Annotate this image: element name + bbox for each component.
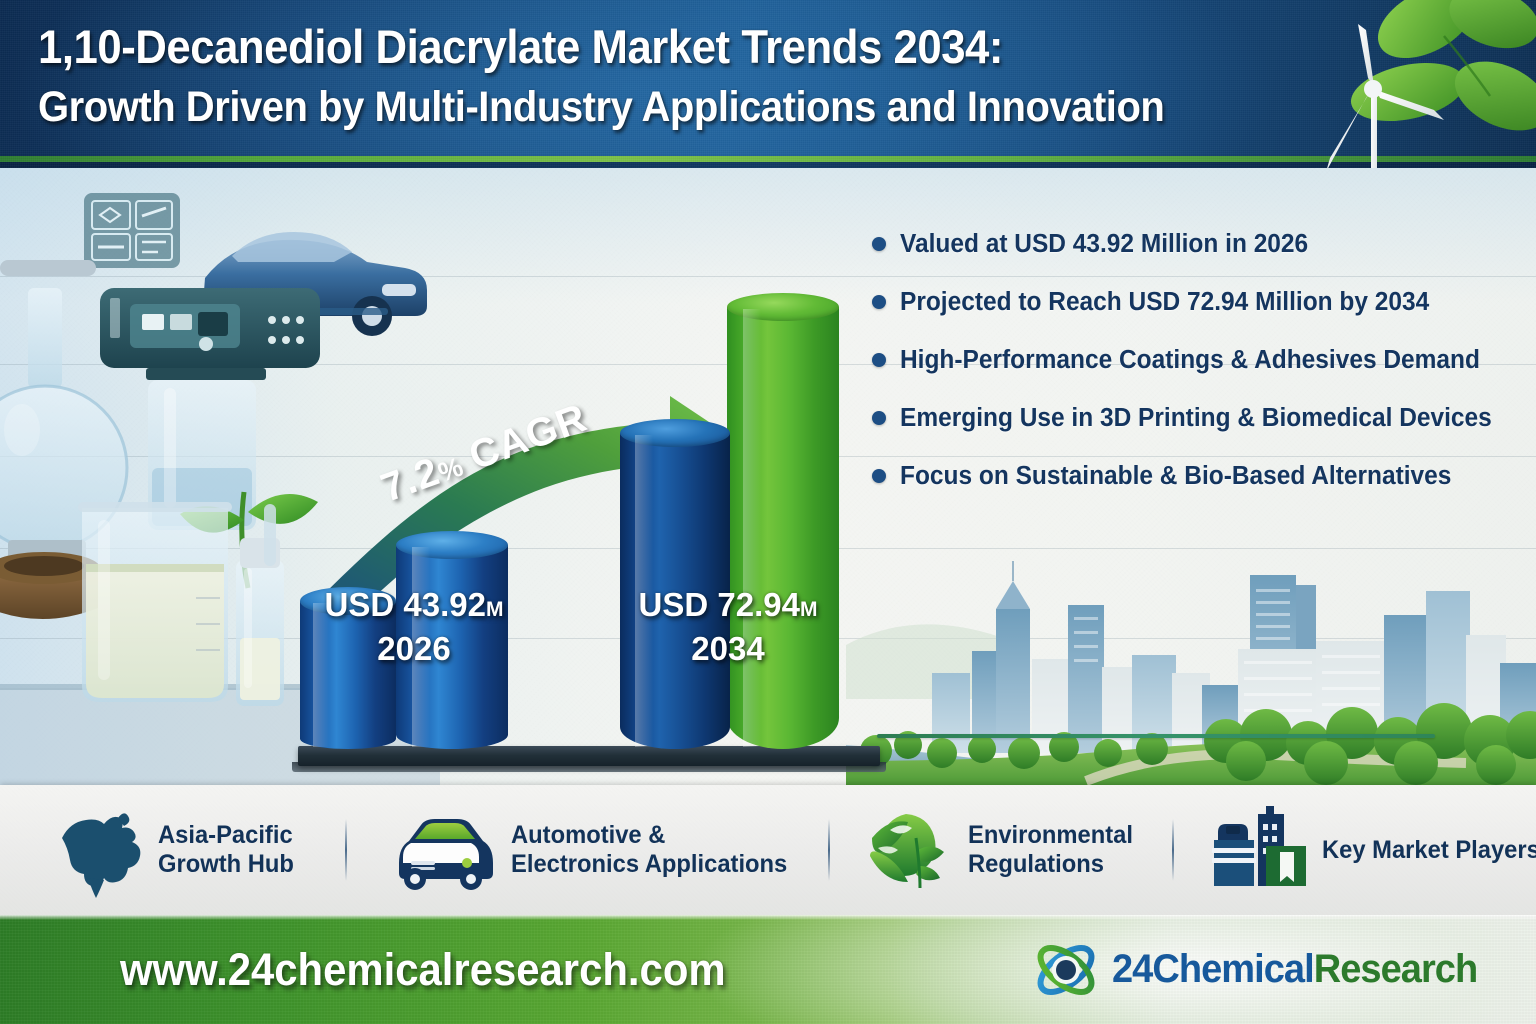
- strip-item-key-players[interactable]: Key Market Players: [1208, 802, 1536, 898]
- bar-body: [727, 307, 839, 749]
- bar-value-2026: USD 43.92M: [294, 586, 534, 629]
- bullet-text: High-Performance Coatings & Adhesives De…: [900, 344, 1480, 376]
- strip-label-automotive: Automotive & Electronics Applications: [511, 821, 802, 879]
- strip-label-line1: Asia-Pacific: [158, 821, 294, 850]
- title-block: 1,10-Decanediol Diacrylate Market Trends…: [38, 16, 1318, 136]
- footer-top-edge: [0, 915, 1536, 920]
- wind-turbine-icon: [1326, 24, 1444, 168]
- australia-map-icon: [48, 800, 144, 900]
- strip-item-automotive[interactable]: Automotive & Electronics Applications: [385, 805, 802, 895]
- bullet-text: Emerging Use in 3D Printing & Biomedical…: [900, 402, 1492, 434]
- footer-bar: www.24chemicalresearch.com 24ChemicalRes…: [0, 915, 1536, 1024]
- strip-divider: [1172, 819, 1174, 881]
- infographic-root: 1,10-Decanediol Diacrylate Market Trends…: [0, 0, 1536, 1024]
- bullet-dot-icon: [872, 469, 886, 483]
- bar-top-ellipse: [727, 293, 839, 321]
- section-divider: [877, 734, 1435, 738]
- strip-divider: [345, 819, 347, 881]
- bullet-dot-icon: [872, 295, 886, 309]
- strip-label-line2: Growth Hub: [158, 850, 294, 879]
- key-highlights-list: Valued at USD 43.92 Million in 2026 Proj…: [872, 228, 1522, 518]
- feature-strip: Asia-Pacific Growth Hub: [0, 785, 1536, 915]
- city-skyline-icon: [846, 545, 1536, 785]
- chart-platform: [298, 746, 880, 766]
- brand-name-part1: 24Chemical: [1112, 947, 1314, 991]
- strip-label-line2: Electronics Applications: [511, 850, 787, 879]
- bar-label-2034: USD 72.94M 2034: [608, 586, 848, 669]
- leaves-icon: [862, 804, 954, 896]
- list-item: Projected to Reach USD 72.94 Million by …: [872, 286, 1522, 318]
- strip-label-line1: Key Market Players: [1322, 836, 1536, 865]
- main-panel: 7.2% CAGR: [0, 168, 1536, 785]
- bullet-text: Projected to Reach USD 72.94 Million by …: [900, 286, 1429, 318]
- strip-label-line1: Environmental: [968, 821, 1133, 850]
- bar-2034-front-green: [727, 293, 839, 749]
- list-item: Emerging Use in 3D Printing & Biomedical…: [872, 402, 1522, 434]
- schematic-panel-icon: [84, 193, 180, 268]
- strip-label-asia-pacific: Asia-Pacific Growth Hub: [158, 821, 301, 879]
- leaf-icon: [1346, 0, 1536, 144]
- bullet-dot-icon: [872, 237, 886, 251]
- bar-label-2026: USD 43.92M 2026: [294, 586, 534, 669]
- bullet-dot-icon: [872, 411, 886, 425]
- brand-name: 24ChemicalResearch: [1112, 947, 1477, 992]
- bullet-dot-icon: [872, 353, 886, 367]
- bar-top-ellipse: [620, 419, 730, 447]
- beaker-icon: [78, 502, 232, 702]
- list-item: Valued at USD 43.92 Million in 2026: [872, 228, 1522, 260]
- strip-label-line1: Automotive &: [511, 821, 787, 850]
- bar-year-2034: 2034: [608, 629, 848, 669]
- website-url[interactable]: www.24chemicalresearch.com: [120, 944, 726, 996]
- page-title-line2: Growth Driven by Multi-Industry Applicat…: [38, 78, 1228, 136]
- factory-building-icon: [1208, 802, 1308, 898]
- list-item: Focus on Sustainable & Bio-Based Alterna…: [872, 460, 1522, 492]
- strip-label-environmental: Environmental Regulations: [968, 821, 1142, 879]
- strip-item-asia-pacific[interactable]: Asia-Pacific Growth Hub: [48, 800, 301, 900]
- strip-item-environmental[interactable]: Environmental Regulations: [862, 804, 1142, 896]
- car-icon: [385, 805, 497, 895]
- page-title-line1: 1,10-Decanediol Diacrylate Market Trends…: [38, 16, 1228, 78]
- strip-label-key-players: Key Market Players: [1322, 836, 1536, 865]
- bar-chart: USD 43.92M 2026 USD 72.94M 2034: [280, 168, 900, 785]
- bar-value-2034: USD 72.94M: [608, 586, 848, 629]
- strip-label-line2: Regulations: [968, 850, 1133, 879]
- brand-name-part2: Research: [1313, 947, 1477, 991]
- header-banner: 1,10-Decanediol Diacrylate Market Trends…: [0, 0, 1536, 168]
- brand-logo[interactable]: 24ChemicalResearch: [1030, 934, 1496, 1006]
- bar-year-2026: 2026: [294, 629, 534, 669]
- atom-orbital-icon: [1030, 934, 1102, 1006]
- bar-top-ellipse: [396, 531, 508, 559]
- bullet-text: Valued at USD 43.92 Million in 2026: [900, 228, 1308, 260]
- strip-divider: [828, 819, 830, 881]
- bar-2034-back-blue: [620, 419, 730, 749]
- bullet-text: Focus on Sustainable & Bio-Based Alterna…: [900, 460, 1451, 492]
- list-item: High-Performance Coatings & Adhesives De…: [872, 344, 1522, 376]
